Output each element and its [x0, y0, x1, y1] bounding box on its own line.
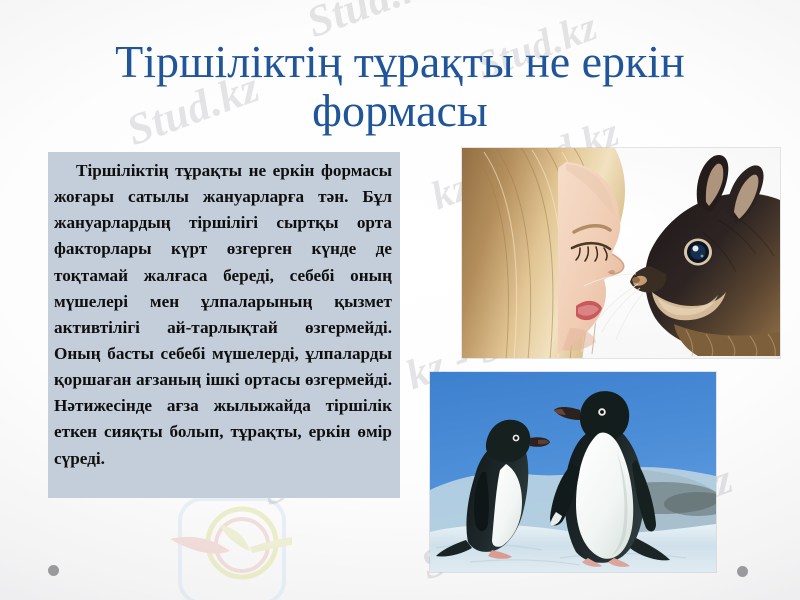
bottom-left-dot	[48, 565, 59, 576]
photo-two-penguins	[430, 372, 716, 572]
slide-title: Тіршіліктің тұрақты не еркін формасы	[40, 37, 760, 135]
photo-girl-with-rabbit	[462, 148, 780, 358]
body-text-panel: Тіршіліктің тұрақты не еркін формасы жоғ…	[48, 152, 400, 498]
presentation-slide: Stud.kzStud.kzStud.kzkz - Stud.kzStud.kz…	[0, 0, 800, 600]
body-paragraph: Тіршіліктің тұрақты не еркін формасы жоғ…	[54, 158, 392, 472]
bottom-right-dot	[737, 566, 748, 577]
hummingbird-logo-watermark	[168, 495, 298, 600]
